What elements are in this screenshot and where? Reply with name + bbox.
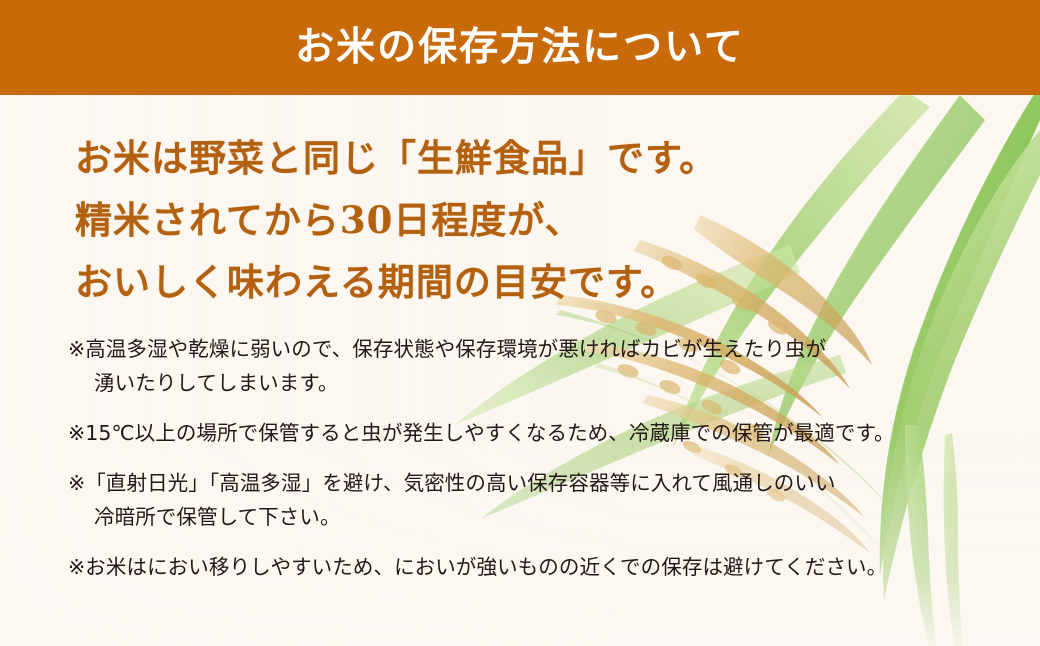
- note-line-continued: 湧いたりしてしまいます。: [68, 366, 968, 400]
- note-item: ※「直射日光」「高温多湿」を避け、気密性の高い保存容器等に入れて風通しのいい 冷…: [68, 466, 968, 534]
- note-item: ※15℃以上の場所で保管すると虫が発生しやすくなるため、冷蔵庫での保管が最適です…: [68, 416, 968, 450]
- note-line: ※「直射日光」「高温多湿」を避け、気密性の高い保存容器等に入れて風通しのいい: [68, 471, 836, 495]
- notes-list: ※高温多湿や乾燥に弱いので、保存状態や保存環境が悪ければカビが生えたり虫が 湧い…: [68, 332, 968, 584]
- content-area: お米は野菜と同じ「生鮮食品」です。 精米されてから30日程度が、 おいしく味わえ…: [0, 95, 1040, 646]
- note-item: ※高温多湿や乾燥に弱いので、保存状態や保存環境が悪ければカビが生えたり虫が 湧い…: [68, 332, 968, 400]
- headline-line-3: おいしく味わえる期間の目安です。: [75, 251, 795, 313]
- headline-line-2: 精米されてから30日程度が、: [75, 189, 795, 251]
- rice-storage-poster: お米の保存方法について お米は野菜と同じ「生鮮食品」です。 精米されてから30日…: [0, 0, 1040, 646]
- headline-block: お米は野菜と同じ「生鮮食品」です。 精米されてから30日程度が、 おいしく味わえ…: [75, 127, 795, 313]
- note-line-continued: 冷暗所で保管して下さい。: [68, 500, 968, 534]
- note-item: ※お米はにおい移りしやすいため、においが強いものの近くでの保存は避けてください。: [68, 550, 968, 584]
- note-line: ※高温多湿や乾燥に弱いので、保存状態や保存環境が悪ければカビが生えたり虫が: [68, 337, 826, 361]
- note-line: ※15℃以上の場所で保管すると虫が発生しやすくなるため、冷蔵庫での保管が最適です…: [68, 421, 895, 445]
- note-line: ※お米はにおい移りしやすいため、においが強いものの近くでの保存は避けてください。: [68, 555, 887, 579]
- page-title: お米の保存方法について: [295, 28, 745, 67]
- header-band: お米の保存方法について: [0, 0, 1040, 95]
- headline-line-1: お米は野菜と同じ「生鮮食品」です。: [75, 127, 795, 189]
